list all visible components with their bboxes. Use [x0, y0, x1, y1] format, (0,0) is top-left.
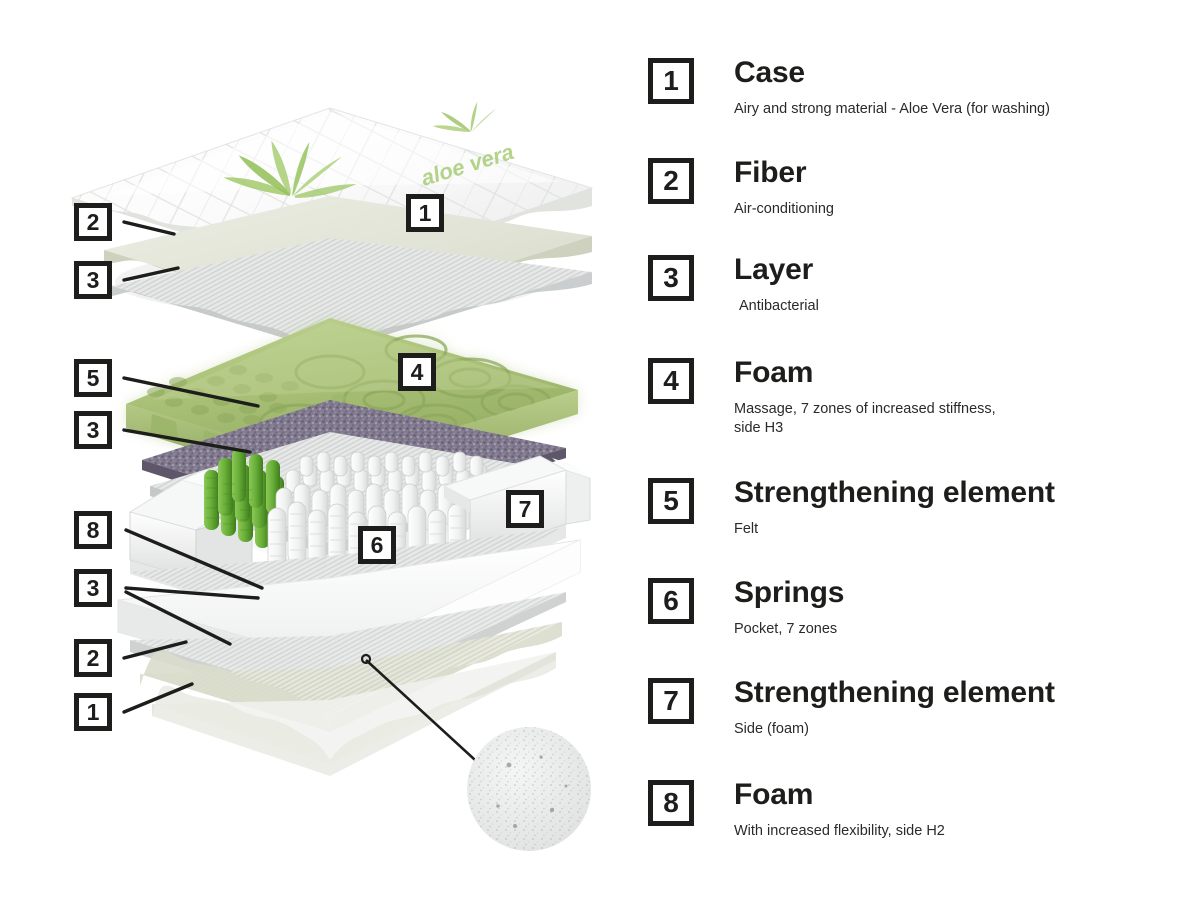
legend-subtitle-foam-massage: Massage, 7 zones of increased stiffness,…: [734, 400, 996, 439]
illustration-marker-3-bottom[interactable]: 3: [74, 569, 112, 607]
legend-item-strengthening-side[interactable]: 7 Strengthening element Side (foam): [648, 678, 1055, 739]
illustration-marker-5[interactable]: 5: [74, 359, 112, 397]
legend-item-fiber[interactable]: 2 Fiber Air-conditioning: [648, 158, 834, 219]
illustration-marker-1[interactable]: 1: [406, 194, 444, 232]
legend-number-7: 7: [648, 678, 694, 724]
illustration-marker-4[interactable]: 4: [398, 353, 436, 391]
illustration-marker-6[interactable]: 6: [358, 526, 396, 564]
legend-subtitle-strengthening-side: Side (foam): [734, 720, 1055, 739]
illustration-marker-2-bottom[interactable]: 2: [74, 639, 112, 677]
legend-number-4: 4: [648, 358, 694, 404]
illustration-marker-1-bottom[interactable]: 1: [74, 693, 112, 731]
diagram-page: aloe vera aloe vera: [0, 0, 1200, 899]
legend-subtitle-strengthening-felt: Felt: [734, 520, 1055, 539]
aloe-plant-icon-small: [430, 99, 500, 138]
legend-item-case[interactable]: 1 Case Airy and strong material - Aloe V…: [648, 58, 1050, 119]
legend-item-layer[interactable]: 3 Layer Antibacterial: [648, 255, 819, 316]
legend-title-strengthening-felt: Strengthening element: [734, 478, 1055, 509]
legend-number-6: 6: [648, 578, 694, 624]
legend-number-8: 8: [648, 780, 694, 826]
mattress-exploded-illustration: aloe vera aloe vera: [0, 0, 640, 899]
legend-title-case: Case: [734, 58, 1050, 89]
illustration-marker-3-mid[interactable]: 3: [74, 411, 112, 449]
legend-subtitle-springs: Pocket, 7 zones: [734, 620, 844, 639]
legend-title-layer: Layer: [734, 255, 819, 286]
illustration-marker-3-top[interactable]: 3: [74, 261, 112, 299]
legend-title-fiber: Fiber: [734, 158, 834, 189]
illustration-marker-8[interactable]: 8: [74, 511, 112, 549]
illustration-marker-7[interactable]: 7: [506, 490, 544, 528]
legend-subtitle-layer: Antibacterial: [734, 297, 819, 316]
legend-subtitle-foam-flex: With increased flexibility, side H2: [734, 822, 945, 841]
legend-item-foam-flex[interactable]: 8 Foam With increased flexibility, side …: [648, 780, 945, 841]
legend-panel: 1 Case Airy and strong material - Aloe V…: [648, 0, 1200, 899]
legend-number-5: 5: [648, 478, 694, 524]
legend-item-strengthening-felt[interactable]: 5 Strengthening element Felt: [648, 478, 1055, 539]
mattress-layers-svg: aloe vera aloe vera: [0, 0, 640, 899]
legend-title-foam-massage: Foam: [734, 358, 996, 389]
legend-item-springs[interactable]: 6 Springs Pocket, 7 zones: [648, 578, 844, 639]
legend-title-foam-flex: Foam: [734, 780, 945, 811]
legend-number-3: 3: [648, 255, 694, 301]
legend-subtitle-fiber: Air-conditioning: [734, 200, 834, 219]
illustration-marker-2-top[interactable]: 2: [74, 203, 112, 241]
legend-item-foam-massage[interactable]: 4 Foam Massage, 7 zones of increased sti…: [648, 358, 996, 438]
legend-title-springs: Springs: [734, 578, 844, 609]
legend-title-strengthening-side: Strengthening element: [734, 678, 1055, 709]
legend-subtitle-case: Airy and strong material - Aloe Vera (fo…: [734, 100, 1050, 119]
legend-number-2: 2: [648, 158, 694, 204]
legend-number-1: 1: [648, 58, 694, 104]
